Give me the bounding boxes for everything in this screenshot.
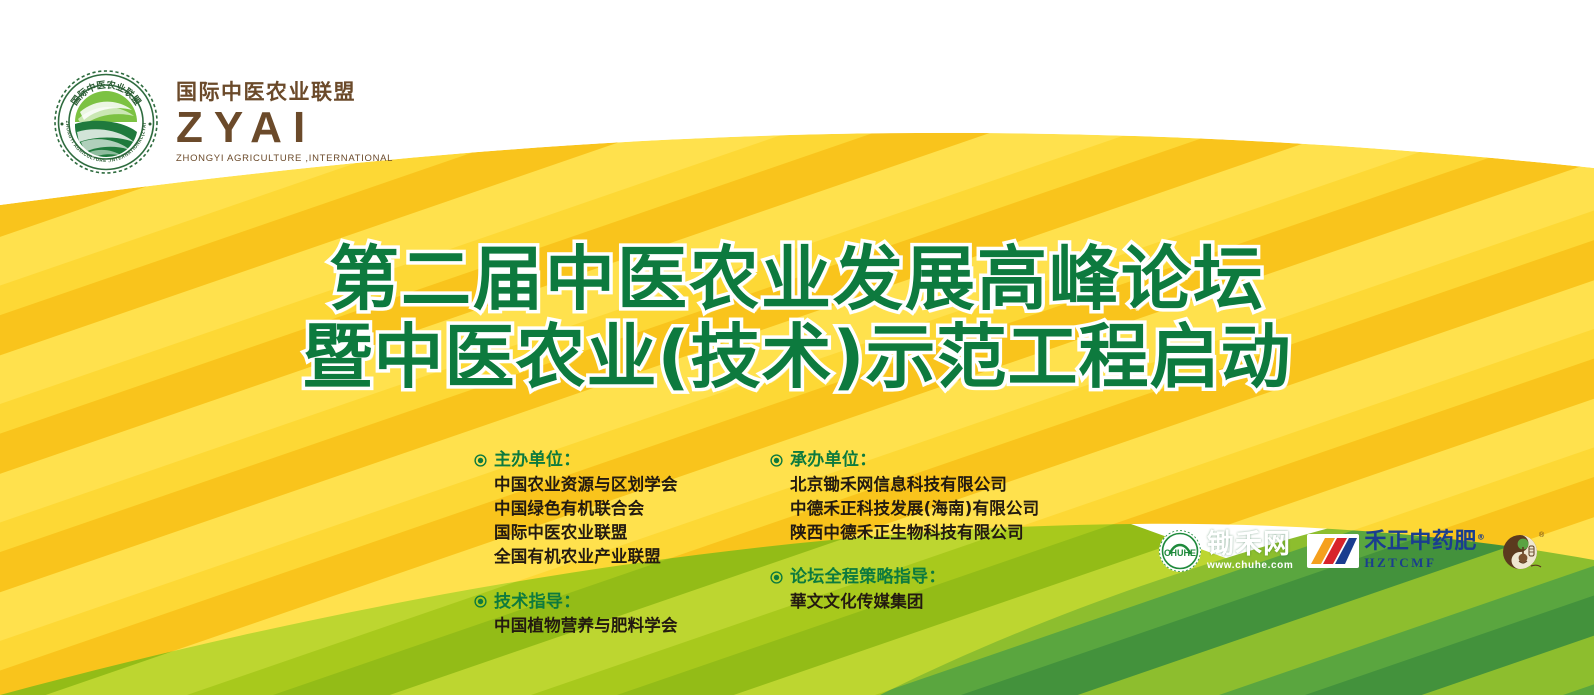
bullet-icon [770,454,783,467]
org-item: 中国绿色有机联合会 [494,497,724,521]
chuhe-mark-text: CHUHE [1164,548,1196,558]
chuhe-wordmark: 锄禾网 www.chuhe.com [1207,531,1293,571]
org-heading: 主办单位： [474,448,724,473]
sponsor-hezheng: 禾正中药肥® HZTCMF [1307,531,1485,571]
organizer-lists: 主办单位： 中国农业资源与区划学会 中国绿色有机联合会 国际中医农业联盟 全国有… [474,448,1070,641]
bullet-icon [770,571,783,584]
hezheng-name: 禾正中药肥® [1364,531,1485,553]
hezheng-name-text: 禾正中药肥 [1364,529,1477,554]
tree-registered-mark: ® [1539,531,1545,539]
brand-name-cn: 国际中医农业联盟 [176,80,356,104]
sponsor-logos: CHUHE 锄禾网 www.chuhe.com 禾正中药肥® [1158,528,1545,574]
bullet-icon [474,595,487,608]
registered-mark: ® [1477,533,1486,542]
brand-wordmark: 国际中医农业联盟 ZYAI ZHONGYI AGRICULTURE ,INTER… [176,80,393,163]
organizer-column-left: 主办单位： 中国农业资源与区划学会 中国绿色有机联合会 国际中医农业联盟 全国有… [474,448,724,641]
brand-name-en: ZHONGYI AGRICULTURE ,INTERNATIONAL [176,153,393,164]
chuhe-seal-icon: CHUHE [1158,529,1202,573]
org-group-strategy-guidance: 论坛全程策略指导： 華文文化传媒集团 [770,565,1070,614]
zyai-seal-icon: 国际中医农业联盟 ZHONGYI AGRICULTURE ,INTERNATIO… [52,68,160,176]
org-heading-label: 技术指导： [494,590,581,615]
hezheng-mark-icon [1307,534,1359,568]
org-heading-label: 论坛全程策略指导： [790,565,946,590]
org-heading-label: 承办单位： [790,448,877,473]
org-heading-label: 主办单位： [494,448,581,473]
organizer-column-right: 承办单位： 北京锄禾网信息科技有限公司 中德禾正科技发展(海南)有限公司 陕西中… [770,448,1070,641]
bullet-icon [474,454,487,467]
org-group-co-host: 承办单位： 北京锄禾网信息科技有限公司 中德禾正科技发展(海南)有限公司 陕西中… [770,448,1070,545]
org-group-host: 主办单位： 中国农业资源与区划学会 中国绿色有机联合会 国际中医农业联盟 全国有… [474,448,724,570]
organization-logo: 国际中医农业联盟 ZHONGYI AGRICULTURE ,INTERNATIO… [52,68,393,176]
org-item: 北京锄禾网信息科技有限公司 [790,473,1070,497]
chuhe-url: www.chuhe.com [1207,560,1293,571]
org-item: 中德禾正科技发展(海南)有限公司 [790,497,1070,521]
org-item: 陕西中德禾正生物科技有限公司 [790,521,1070,545]
org-item: 中国农业资源与区划学会 [494,473,724,497]
sponsor-tree-seal: ® [1499,528,1545,574]
org-heading: 论坛全程策略指导： [770,565,1070,590]
hezheng-acronym: HZTCMF [1364,555,1436,571]
brand-acronym: ZYAI [176,106,316,150]
org-group-tech-guidance: 技术指导： 中国植物营养与肥料学会 [474,590,724,639]
org-item: 中国植物营养与肥料学会 [494,614,724,638]
conference-banner: 国际中医农业联盟 ZHONGYI AGRICULTURE ,INTERNATIO… [0,0,1594,695]
org-item: 国际中医农业联盟 [494,521,724,545]
hezheng-wordmark: 禾正中药肥® HZTCMF [1364,531,1485,571]
chuhe-name: 锄禾网 [1207,531,1291,558]
org-heading: 承办单位： [770,448,1070,473]
sponsor-chuhe: CHUHE 锄禾网 www.chuhe.com [1158,529,1293,573]
org-item: 全国有机农业产业联盟 [494,545,724,569]
org-item: 華文文化传媒集团 [790,590,1070,614]
org-heading: 技术指导： [474,590,724,615]
